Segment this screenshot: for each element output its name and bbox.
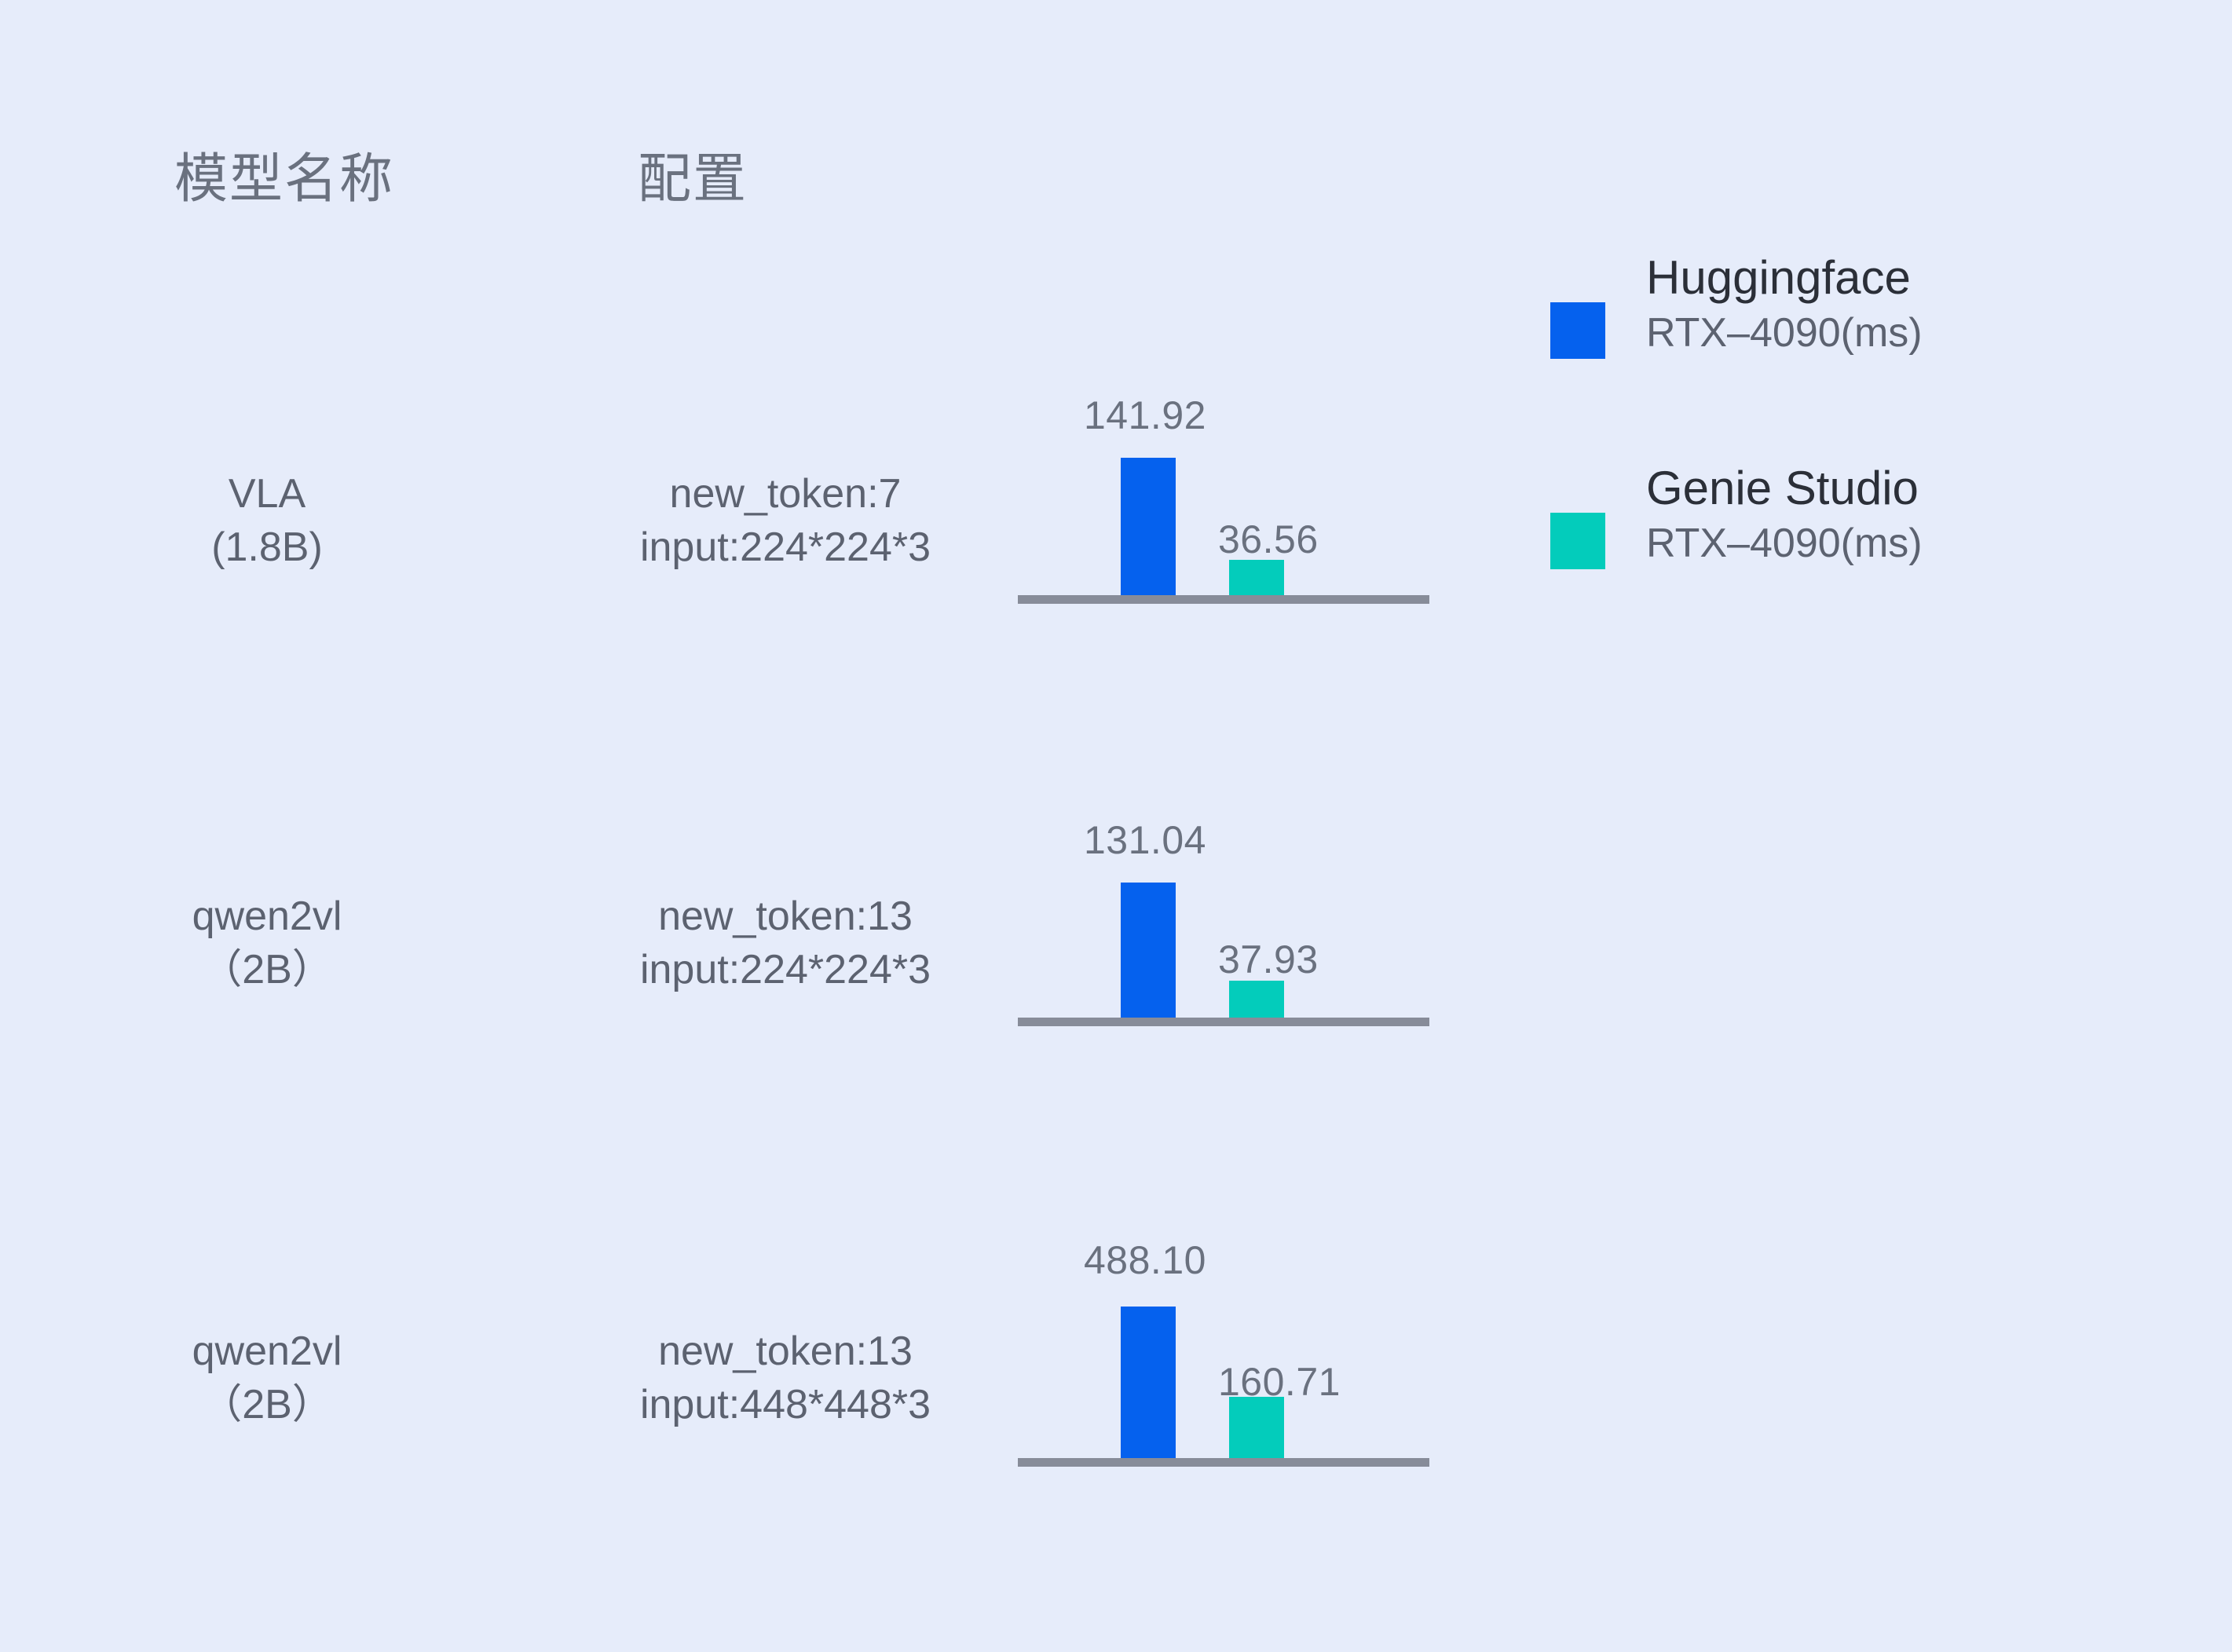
- bar-genie-studio[interactable]: [1229, 981, 1284, 1018]
- row-model-line1: qwen2vl: [141, 890, 393, 944]
- column-header-config: 配置: [638, 135, 748, 213]
- row-plot-area: 141.92 36.56: [1018, 236, 1429, 612]
- legend-series-name: Huggingface: [1646, 251, 2164, 304]
- legend-item-genie-studio[interactable]: Genie Studio RTX–4090(ms): [1544, 462, 2188, 627]
- chart-row: qwen2vl （2B） new_token:13 input:448*448*…: [0, 1080, 2232, 1473]
- bar-value-primary: 141.92: [1084, 393, 1206, 438]
- legend-series-sub: RTX–4090(ms): [1646, 519, 2164, 568]
- row-baseline: [1018, 595, 1429, 604]
- row-model-label: qwen2vl （2B）: [141, 1325, 393, 1431]
- bar-value-secondary: 36.56: [1218, 517, 1319, 562]
- bar-huggingface[interactable]: [1121, 458, 1176, 595]
- row-config-line2: input:224*224*3: [471, 944, 1100, 997]
- row-config-line1: new_token:13: [471, 1325, 1100, 1379]
- bar-huggingface[interactable]: [1121, 1307, 1176, 1466]
- row-config-label: new_token:13 input:224*224*3: [471, 890, 1100, 996]
- row-model-line1: VLA: [141, 468, 393, 521]
- row-config-label: new_token:7 input:224*224*3: [471, 468, 1100, 574]
- legend-text-block: Genie Studio RTX–4090(ms): [1646, 462, 2164, 569]
- bar-genie-studio[interactable]: [1229, 1397, 1284, 1458]
- legend-swatch-teal-icon: [1550, 513, 1605, 569]
- chart-row: qwen2vl （2B） new_token:13 input:224*224*…: [0, 658, 2232, 1035]
- row-model-line2: （2B）: [141, 944, 393, 997]
- row-config-line2: input:224*224*3: [471, 521, 1100, 575]
- row-model-label: qwen2vl （2B）: [141, 890, 393, 996]
- row-model-label: VLA (1.8B): [141, 468, 393, 574]
- row-model-line2: （2B）: [141, 1379, 393, 1432]
- row-model-line2: (1.8B): [141, 521, 393, 575]
- row-model-line1: qwen2vl: [141, 1325, 393, 1379]
- legend-item-huggingface[interactable]: Huggingface RTX–4090(ms): [1544, 251, 2188, 416]
- row-plot-area: 131.04 37.93: [1018, 658, 1429, 1035]
- legend-text-block: Huggingface RTX–4090(ms): [1646, 251, 2164, 359]
- row-baseline: [1018, 1458, 1429, 1467]
- row-config-line1: new_token:7: [471, 468, 1100, 521]
- row-config-line2: input:448*448*3: [471, 1379, 1100, 1432]
- bar-value-secondary: 37.93: [1218, 937, 1319, 982]
- bar-value-primary: 488.10: [1084, 1237, 1206, 1283]
- bar-huggingface[interactable]: [1121, 883, 1176, 1018]
- bar-genie-studio[interactable]: [1229, 560, 1284, 595]
- row-plot-area: 488.10 160.71: [1018, 1080, 1429, 1473]
- chart-canvas: 模型名称 配置 VLA (1.8B) new_token:7 input:224…: [0, 0, 2232, 1652]
- legend-swatch-blue-icon: [1550, 302, 1605, 359]
- bar-value-primary: 131.04: [1084, 817, 1206, 863]
- legend-series-sub: RTX–4090(ms): [1646, 309, 2164, 358]
- row-config-label: new_token:13 input:448*448*3: [471, 1325, 1100, 1431]
- legend-series-name: Genie Studio: [1646, 462, 2164, 514]
- column-header-model-name: 模型名称: [174, 135, 394, 213]
- row-baseline: [1018, 1018, 1429, 1026]
- row-config-line1: new_token:13: [471, 890, 1100, 944]
